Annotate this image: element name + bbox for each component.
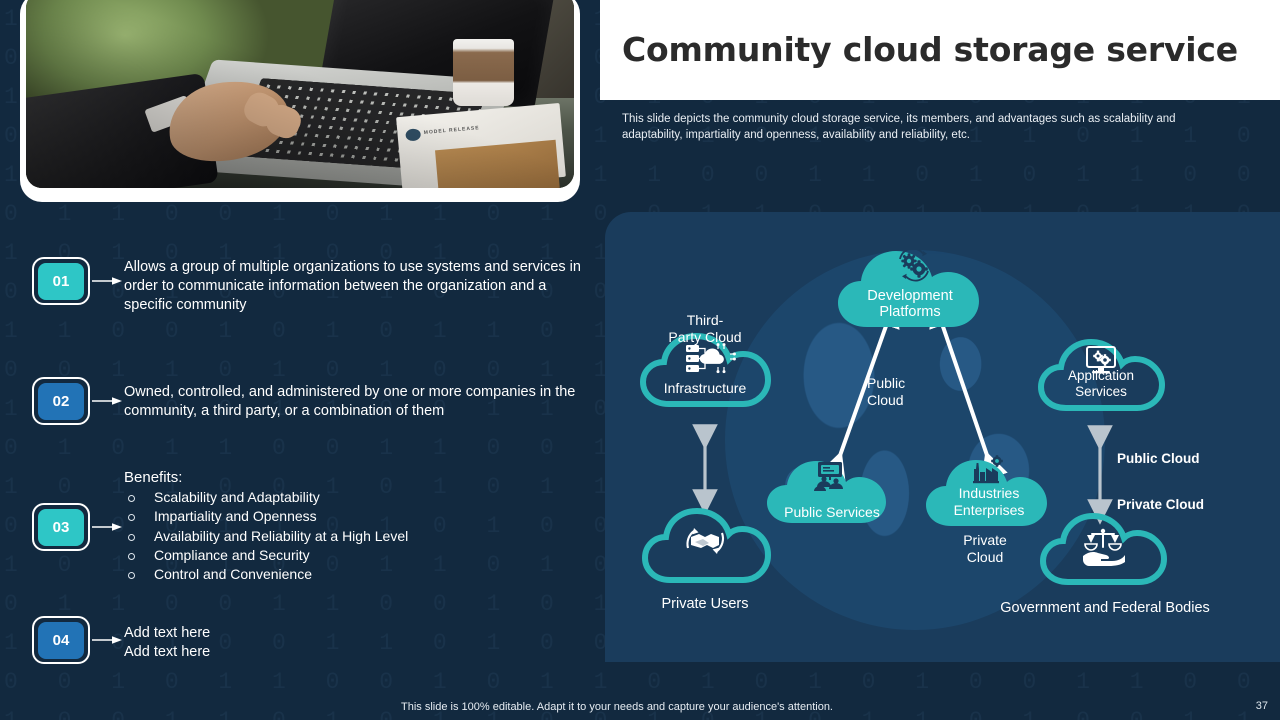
page-title: Community cloud storage service — [622, 30, 1238, 69]
cloud-development-platforms[interactable]: DevelopmentPlatforms — [836, 247, 984, 331]
bullet-text-02: Owned, controlled, and administered by o… — [124, 383, 594, 421]
cloud-public-services[interactable]: Public Services — [765, 457, 899, 527]
factory-gear-icon — [971, 455, 1005, 485]
label-third-party-cloud: Third-Party Cloud — [635, 312, 775, 346]
list-item: Availability and Reliability at a High L… — [124, 527, 564, 546]
bullet-badge-03[interactable]: 03 — [32, 503, 90, 551]
cloud-industries-enterprises[interactable]: IndustriesEnterprises — [923, 454, 1055, 530]
cloud-label-application-services: ApplicationServices — [1037, 368, 1165, 400]
label-public-cloud-right: Public Cloud — [1117, 450, 1257, 467]
benefits-block: Benefits: Scalability and Adaptability I… — [124, 469, 564, 584]
benefits-heading: Benefits: — [124, 469, 564, 486]
bullet-text-04-line1: Add text here — [124, 624, 210, 643]
bullet-number-03: 03 — [38, 509, 84, 546]
scales-hand-icon — [1079, 528, 1127, 566]
cloud-private-users[interactable] — [641, 504, 771, 586]
cloud-label-public-services: Public Services — [765, 505, 899, 521]
benefits-list: Scalability and Adaptability Impartialit… — [124, 488, 564, 584]
bullet-number-04: 04 — [38, 622, 84, 659]
label-public-cloud-center: PublicCloud — [867, 375, 957, 409]
bullet-arrow-03 — [92, 522, 122, 532]
list-item: Control and Convenience — [124, 565, 564, 584]
bullet-arrow-02 — [92, 396, 122, 406]
server-network-icon — [684, 343, 736, 377]
cloud-label-development-platforms: DevelopmentPlatforms — [836, 289, 984, 320]
bullet-number-01: 01 — [38, 263, 84, 300]
cloud-label-private-users: Private Users — [635, 596, 775, 613]
hero-photo-card: MODEL RELEASE — [20, 0, 580, 202]
label-private-cloud-right: Private Cloud — [1117, 496, 1257, 513]
laptop-photo: MODEL RELEASE — [26, 0, 574, 188]
bullet-number-02: 02 — [38, 383, 84, 420]
cloud-label-infrastructure: Infrastructure — [639, 381, 771, 397]
label-private-cloud-center: PrivateCloud — [935, 532, 1035, 566]
handshake-cycle-icon — [677, 524, 733, 564]
cloud-government-bodies[interactable] — [1039, 510, 1167, 588]
cloud-application-services[interactable]: ApplicationServices — [1037, 336, 1165, 414]
presentation-audience-icon — [813, 460, 847, 492]
page-number: 37 — [1256, 700, 1268, 712]
bullet-badge-04[interactable]: 04 — [32, 616, 90, 664]
bullet-text-04-line2: Add text here — [124, 643, 210, 662]
slide-subtitle: This slide depicts the community cloud s… — [622, 111, 1222, 143]
list-item: Impartiality and Openness — [124, 507, 564, 526]
bullet-arrow-04 — [92, 635, 122, 645]
bullet-text-01: Allows a group of multiple organizations… — [124, 258, 586, 315]
footer-note: This slide is 100% editable. Adapt it to… — [401, 701, 833, 713]
list-item: Scalability and Adaptability — [124, 488, 564, 507]
bullet-badge-02[interactable]: 02 — [32, 377, 90, 425]
slide-canvas: 1 0 1 1 0 0 1 0 1 0 0 1 1 0 1 0 0 1 0 1 … — [0, 0, 1280, 720]
gears-cycle-icon — [894, 248, 934, 282]
bullet-badge-01[interactable]: 01 — [32, 257, 90, 305]
cloud-label-government-bodies: Government and Federal Bodies — [960, 600, 1250, 617]
cloud-label-industries-enterprises: IndustriesEnterprises — [923, 485, 1055, 519]
cloud-diagram-panel: DevelopmentPlatforms — [605, 212, 1280, 662]
bullet-arrow-01 — [92, 276, 122, 286]
list-item: Compliance and Security — [124, 546, 564, 565]
